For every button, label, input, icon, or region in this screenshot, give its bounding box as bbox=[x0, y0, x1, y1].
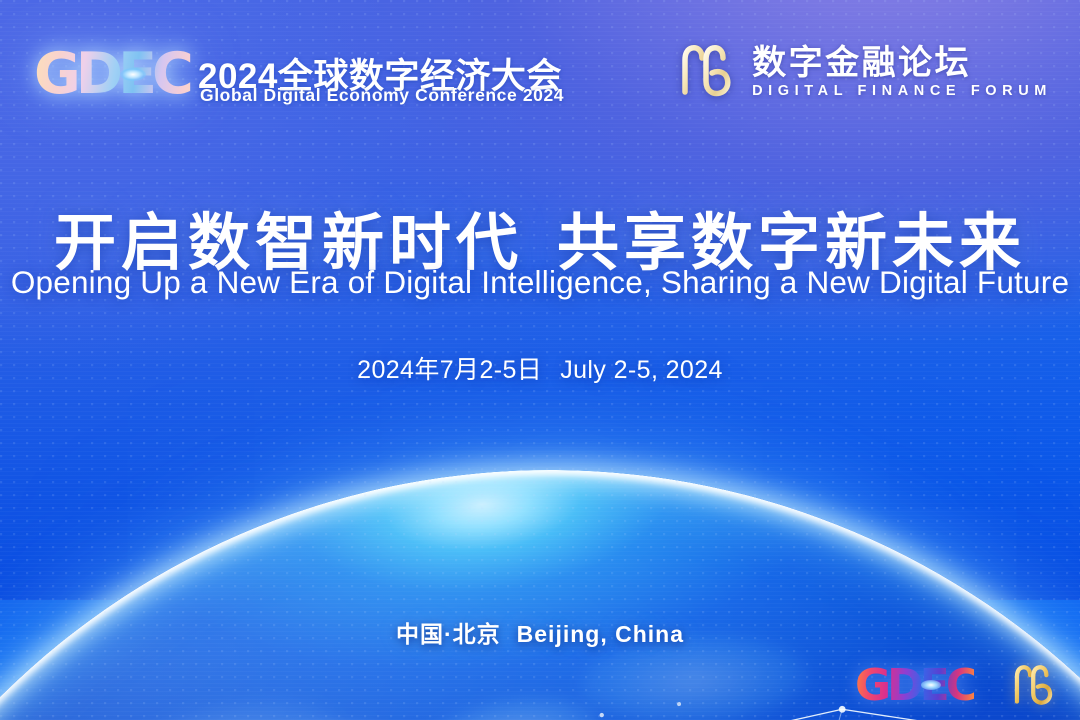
event-date-en: July 2-5, 2024 bbox=[560, 356, 723, 384]
spark-icon bbox=[921, 680, 941, 690]
ff-monogram-icon bbox=[676, 45, 738, 99]
event-date: 2024年7月2-5日July 2-5, 2024 bbox=[0, 350, 1080, 386]
gdec-footer-logo-text: GDEC bbox=[855, 660, 974, 711]
gdec-logo-text: GDEC bbox=[34, 44, 202, 104]
event-location: 中国·北京Beijing, China bbox=[0, 615, 1080, 649]
slogan-en: Opening Up a New Era of Digital Intellig… bbox=[0, 264, 1080, 301]
forum-title-cn: 数字金融论坛 bbox=[752, 44, 1052, 82]
forum-title-block: 数字金融论坛 DIGITAL FINANCE FORUM bbox=[752, 44, 1052, 100]
ff-monogram-icon bbox=[1010, 664, 1058, 708]
spark-icon bbox=[120, 68, 146, 81]
conference-title-en: Global Digital Economy Conference 2024 bbox=[200, 85, 564, 106]
event-date-cn: 2024年7月2-5日 bbox=[357, 356, 542, 384]
footer-logo-row: GDEC bbox=[855, 662, 1058, 710]
conference-backdrop: GDEC 2024全球数字经济大会 Global Digital Economy… bbox=[0, 0, 1080, 720]
event-location-en: Beijing, China bbox=[517, 621, 684, 647]
event-location-cn: 中国·北京 bbox=[396, 621, 501, 647]
gdec-footer-logo: GDEC bbox=[855, 662, 974, 710]
forum-title-en: DIGITAL FINANCE FORUM bbox=[752, 82, 1052, 100]
digital-finance-forum-logo: 数字金融论坛 DIGITAL FINANCE FORUM bbox=[676, 44, 1052, 100]
gdec-logo: GDEC bbox=[34, 44, 202, 104]
